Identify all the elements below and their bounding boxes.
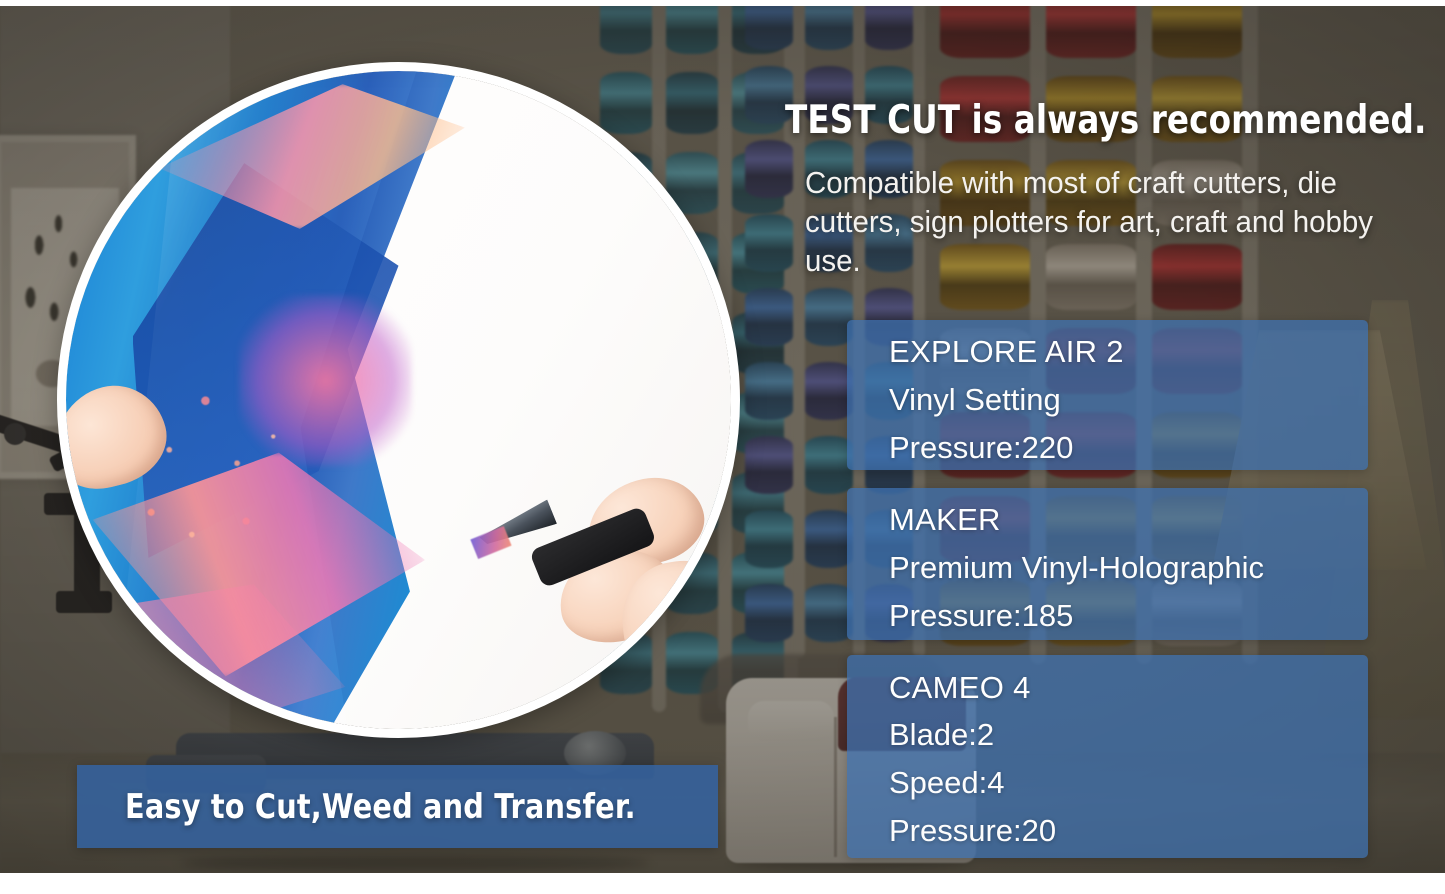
spec-panel-cameo-4: CAMEO 4 Blade:2 Speed:4 Pressure:20 — [847, 655, 1368, 858]
product-photo-circle — [57, 62, 740, 738]
spec-panel-line: Blade:2 — [889, 717, 994, 753]
spec-panel-title: MAKER — [889, 502, 1001, 538]
product-photo — [66, 71, 731, 729]
tagline-banner: Easy to Cut,Weed and Transfer. — [77, 765, 718, 848]
spec-panel-line: Pressure:220 — [889, 430, 1073, 466]
spec-panel-title: CAMEO 4 — [889, 670, 1031, 706]
page-edge-bottom — [0, 873, 1445, 894]
spec-panel-line: Pressure:185 — [889, 598, 1073, 634]
spec-panel-line: Premium Vinyl-Holographic — [889, 550, 1264, 586]
tagline-text: Easy to Cut,Weed and Transfer. — [125, 787, 636, 827]
spec-panel-line: Vinyl Setting — [889, 382, 1061, 418]
page-title: TEST CUT is always recommended. — [785, 98, 1426, 143]
spec-panel-line: Speed:4 — [889, 765, 1005, 801]
spec-panel-line: Pressure:20 — [889, 813, 1056, 849]
description-text: Compatible with most of craft cutters, d… — [805, 163, 1413, 280]
spec-panel-maker: MAKER Premium Vinyl-Holographic Pressure… — [847, 488, 1368, 640]
page-edge-top — [0, 0, 1445, 6]
infographic-canvas: TEST CUT is always recommended. Compatib… — [0, 0, 1445, 894]
spec-panel-title: EXPLORE AIR 2 — [889, 334, 1124, 370]
spec-panel-explore-air-2: EXPLORE AIR 2 Vinyl Setting Pressure:220 — [847, 320, 1368, 470]
hand-with-weeding-tool — [518, 466, 731, 703]
